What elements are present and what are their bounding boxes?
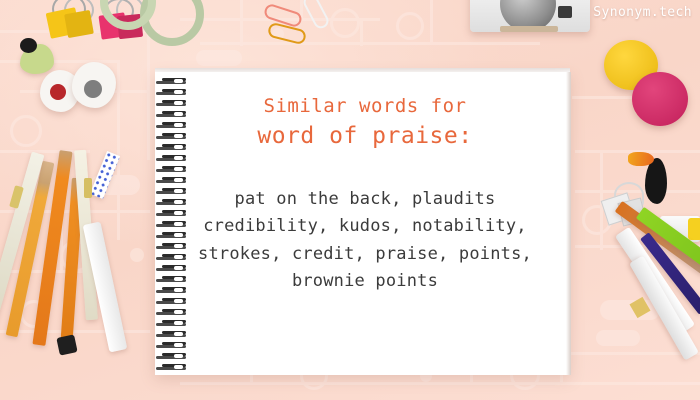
- stone-grey-center: [84, 80, 102, 98]
- heading-line-1: Similar words for: [264, 94, 467, 120]
- synonym-line: brownie points: [198, 268, 532, 296]
- bird-head: [20, 38, 37, 53]
- synonym-list: pat on the back, plaudits credibility, k…: [198, 186, 532, 296]
- synonym-line: strokes, credit, praise, points,: [198, 241, 532, 269]
- camera-detail: [558, 6, 572, 18]
- binder-clip-yellow: [44, 4, 96, 50]
- page-edge-right: [566, 72, 571, 375]
- marker-white-left-tip: [56, 334, 77, 355]
- page-content: Similar words for word of praise: pat on…: [175, 72, 555, 375]
- toucan-beak: [628, 152, 654, 166]
- pen-cream-2-clip: [84, 178, 92, 198]
- camera-grip: [500, 26, 558, 32]
- macaron-pink: [632, 72, 688, 126]
- stone-red-center: [50, 84, 66, 100]
- heading-line-2: word of praise:: [257, 120, 472, 152]
- site-watermark: Synonym.tech: [593, 5, 692, 20]
- synonym-line: pat on the back, plaudits: [198, 186, 532, 214]
- screenshot-stage: Similar words for word of praise: pat on…: [0, 0, 700, 400]
- synonym-line: credibility, kudos, notability,: [198, 213, 532, 241]
- glue-tube-cap: [688, 218, 700, 240]
